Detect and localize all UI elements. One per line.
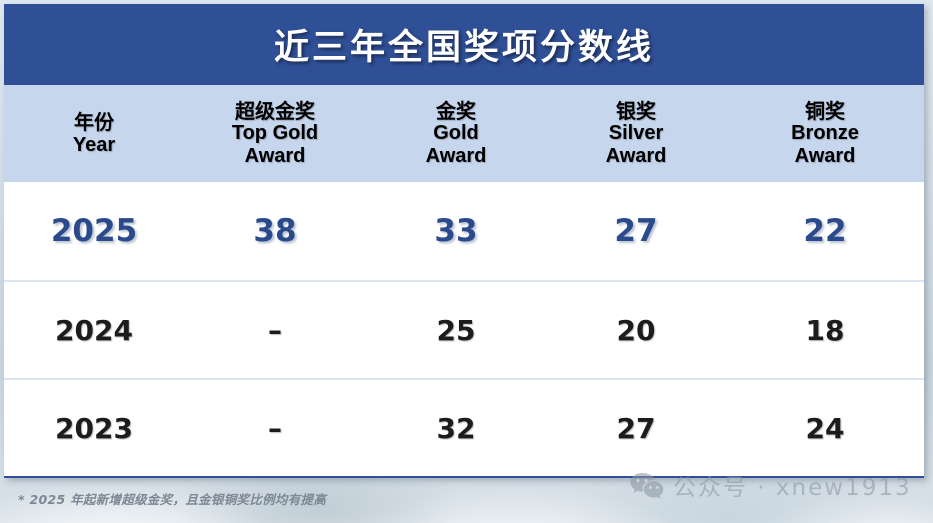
cell-gold: 32 <box>366 380 546 476</box>
cell-top-gold: 38 <box>184 182 366 280</box>
column-header-gold-en1: Gold <box>433 122 479 145</box>
cell-gold: 25 <box>366 282 546 378</box>
column-header-top-gold: 超级金奖 Top Gold Award <box>184 85 366 182</box>
cell-year: 2025 <box>4 182 184 280</box>
cell-top-gold: – <box>184 282 366 378</box>
value-top-gold: – <box>268 314 282 347</box>
watermark: 公众号 · xnew1913 <box>630 468 912 502</box>
column-header-year: 年份 Year <box>4 85 184 182</box>
value-bronze: 22 <box>803 213 846 249</box>
cell-bronze: 24 <box>726 380 924 476</box>
column-header-bronze: 铜奖 Bronze Award <box>726 85 924 182</box>
cell-gold: 33 <box>366 182 546 280</box>
column-header-silver-en2: Award <box>606 145 667 168</box>
column-header-gold-en2: Award <box>426 145 487 168</box>
column-header-gold-cn: 金奖 <box>436 100 476 123</box>
value-year: 2024 <box>55 314 133 347</box>
value-gold: 33 <box>434 213 477 249</box>
column-header-bronze-en2: Award <box>795 145 856 168</box>
title-bar: 近三年全国奖项分数线 <box>4 4 924 85</box>
cell-year: 2024 <box>4 282 184 378</box>
cell-top-gold: – <box>184 380 366 476</box>
column-header-year-cn: 年份 <box>74 111 114 134</box>
footnote-text: * 2025 年起新增超级金奖，且金银铜奖比例均有提高 <box>18 489 326 508</box>
column-header-year-en: Year <box>73 134 115 157</box>
cell-silver: 27 <box>546 182 726 280</box>
value-top-gold: 38 <box>253 213 296 249</box>
value-silver: 27 <box>617 412 656 445</box>
column-header-top-gold-en1: Top Gold <box>232 122 318 145</box>
table-row: 2025 38 33 27 22 <box>4 182 924 280</box>
column-header-gold: 金奖 Gold Award <box>366 85 546 182</box>
score-table-card: 近三年全国奖项分数线 年份 Year 超级金奖 Top Gold Award 金… <box>4 4 924 478</box>
table-header-row: 年份 Year 超级金奖 Top Gold Award 金奖 Gold Awar… <box>4 85 924 182</box>
cell-year: 2023 <box>4 380 184 476</box>
cell-bronze: 18 <box>726 282 924 378</box>
column-header-top-gold-cn: 超级金奖 <box>235 100 315 123</box>
cell-bronze: 22 <box>726 182 924 280</box>
value-silver: 27 <box>614 213 657 249</box>
column-header-top-gold-en2: Award <box>245 145 306 168</box>
value-year: 2025 <box>51 213 137 249</box>
column-header-silver-cn: 银奖 <box>616 100 656 123</box>
page-title: 近三年全国奖项分数线 <box>274 19 654 70</box>
column-header-silver-en1: Silver <box>609 122 663 145</box>
cell-silver: 27 <box>546 380 726 476</box>
value-bronze: 24 <box>806 412 845 445</box>
value-bronze: 18 <box>806 314 845 347</box>
value-top-gold: – <box>268 412 282 445</box>
value-year: 2023 <box>55 412 133 445</box>
value-gold: 32 <box>437 412 476 445</box>
table-row: 2023 – 32 27 24 <box>4 378 924 476</box>
value-gold: 25 <box>437 314 476 347</box>
value-silver: 20 <box>617 314 656 347</box>
wechat-icon <box>630 472 664 499</box>
column-header-bronze-en1: Bronze <box>791 122 859 145</box>
watermark-text: 公众号 · xnew1913 <box>673 468 912 502</box>
cell-silver: 20 <box>546 282 726 378</box>
column-header-bronze-cn: 铜奖 <box>805 100 845 123</box>
table-row: 2024 – 25 20 18 <box>4 280 924 378</box>
column-header-silver: 银奖 Silver Award <box>546 85 726 182</box>
